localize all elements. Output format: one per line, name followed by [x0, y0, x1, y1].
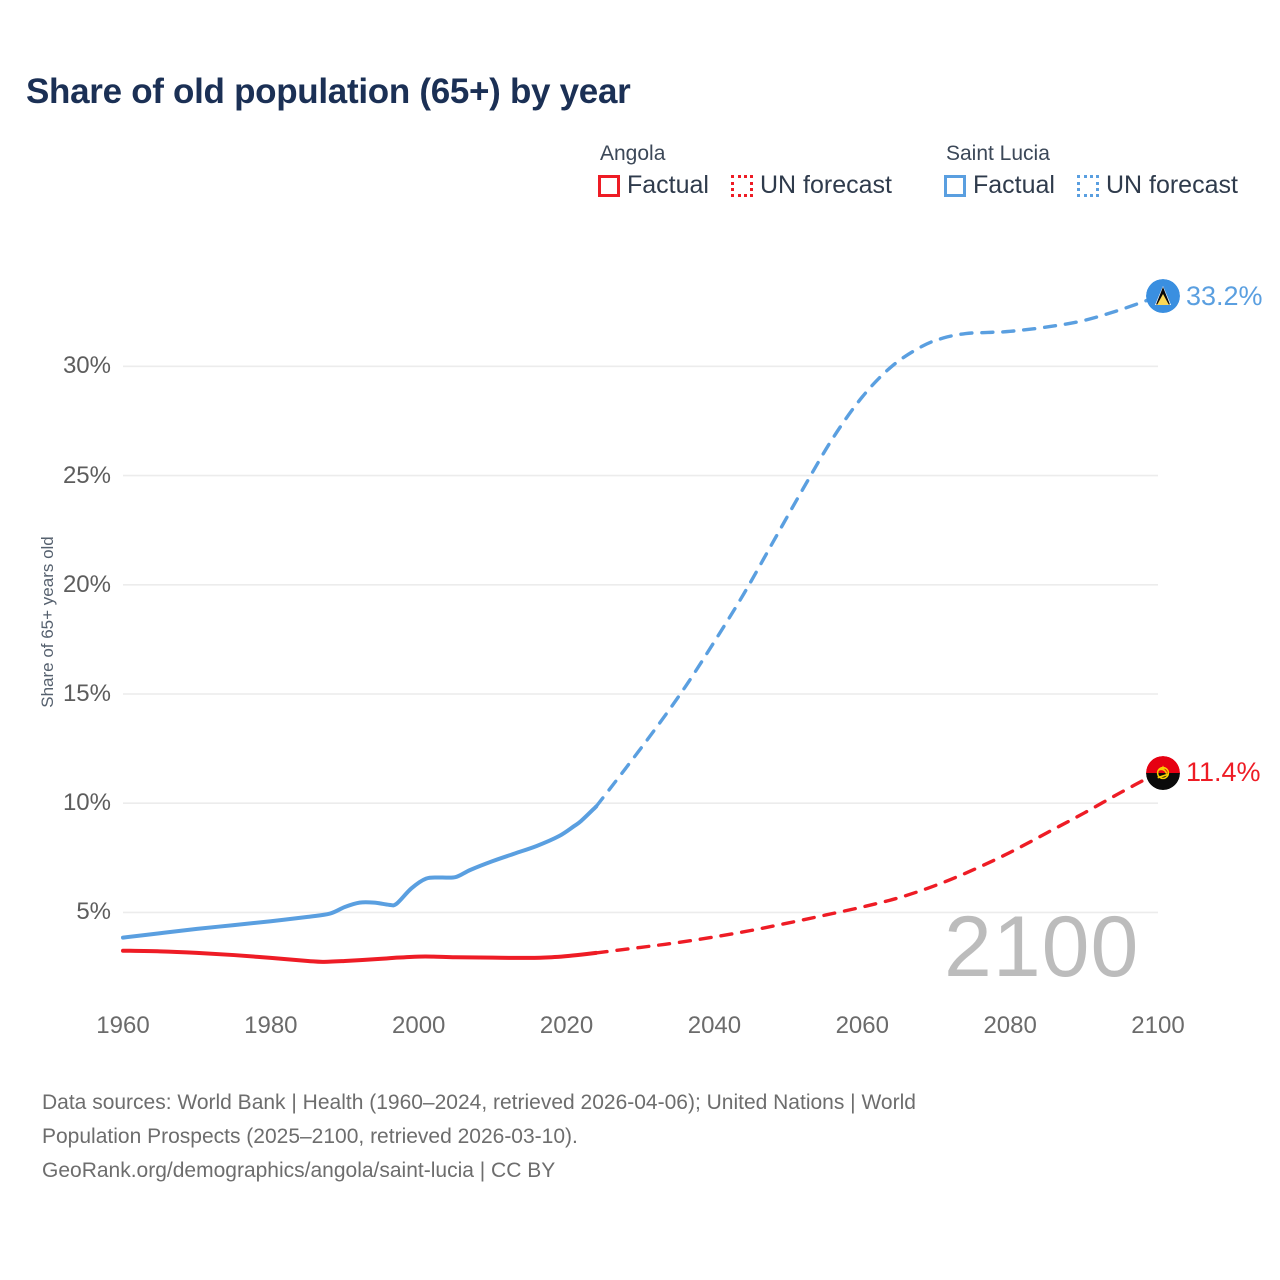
- endpoint-value-label: 33.2%: [1186, 281, 1263, 312]
- footer-line-1: Data sources: World Bank | Health (1960–…: [42, 1086, 1172, 1120]
- series-line-saint-lucia-factual: [123, 807, 596, 938]
- endpoint-marker-saint-lucia[interactable]: 33.2%: [1146, 279, 1263, 313]
- y-axis-tick-label: 20%: [33, 571, 111, 599]
- legend-item-label: UN forecast: [760, 171, 892, 200]
- endpoint-marker-angola[interactable]: 11.4%: [1146, 756, 1261, 790]
- page-title: Share of old population (65+) by year: [26, 72, 630, 112]
- legend-group-saint-lucia: Saint Lucia Factual UN forecast: [944, 143, 1238, 200]
- legend-entries-angola: Factual UN forecast: [598, 171, 892, 200]
- watermark-year: 2100: [944, 898, 1139, 997]
- chart-series-paths: [123, 296, 1158, 961]
- x-axis-tick-label: 2060: [802, 1012, 922, 1040]
- saint-lucia-flag-icon: [1146, 279, 1180, 313]
- legend-country-label: Angola: [598, 143, 892, 165]
- x-axis-tick-label: 2000: [359, 1012, 479, 1040]
- legend-item-angola-forecast[interactable]: UN forecast: [731, 171, 892, 200]
- dotted-square-outline-icon: [1077, 175, 1099, 197]
- y-axis-tick-label: 30%: [33, 352, 111, 380]
- x-axis-tick-label: 2020: [507, 1012, 627, 1040]
- x-axis-tick-label: 2100: [1098, 1012, 1218, 1040]
- legend-country-label: Saint Lucia: [944, 143, 1238, 165]
- legend-item-label: Factual: [973, 171, 1055, 200]
- y-axis-tick-label: 25%: [33, 462, 111, 490]
- footer-line-2: Population Prospects (2025–2100, retriev…: [42, 1120, 1172, 1154]
- legend-item-angola-factual[interactable]: Factual: [598, 171, 709, 200]
- y-axis-tick-label: 15%: [33, 680, 111, 708]
- chart-gridlines: [123, 366, 1158, 912]
- footer-sources: Data sources: World Bank | Health (1960–…: [42, 1086, 1172, 1188]
- solid-square-outline-icon: [598, 175, 620, 197]
- x-axis-tick-label: 1960: [63, 1012, 183, 1040]
- legend-item-label: UN forecast: [1106, 171, 1238, 200]
- legend-item-saint-lucia-forecast[interactable]: UN forecast: [1077, 171, 1238, 200]
- endpoint-value-label: 11.4%: [1186, 757, 1261, 788]
- footer-line-3: GeoRank.org/demographics/angola/saint-lu…: [42, 1154, 1172, 1188]
- angola-flag-icon: [1146, 756, 1180, 790]
- series-line-saint-lucia-forecast: [596, 296, 1158, 806]
- chart-legend: Angola Factual UN forecast Saint Lucia F…: [598, 143, 1238, 200]
- x-axis-tick-label: 2040: [654, 1012, 774, 1040]
- dotted-square-outline-icon: [731, 175, 753, 197]
- legend-entries-saint-lucia: Factual UN forecast: [944, 171, 1238, 200]
- y-axis-tick-label: 10%: [33, 789, 111, 817]
- legend-item-label: Factual: [627, 171, 709, 200]
- solid-square-outline-icon: [944, 175, 966, 197]
- y-axis-tick-label: 5%: [33, 898, 111, 926]
- x-axis-tick-label: 2080: [950, 1012, 1070, 1040]
- legend-group-angola: Angola Factual UN forecast: [598, 143, 892, 200]
- series-line-angola-factual: [123, 951, 596, 962]
- legend-item-saint-lucia-factual[interactable]: Factual: [944, 171, 1055, 200]
- x-axis-tick-label: 1980: [211, 1012, 331, 1040]
